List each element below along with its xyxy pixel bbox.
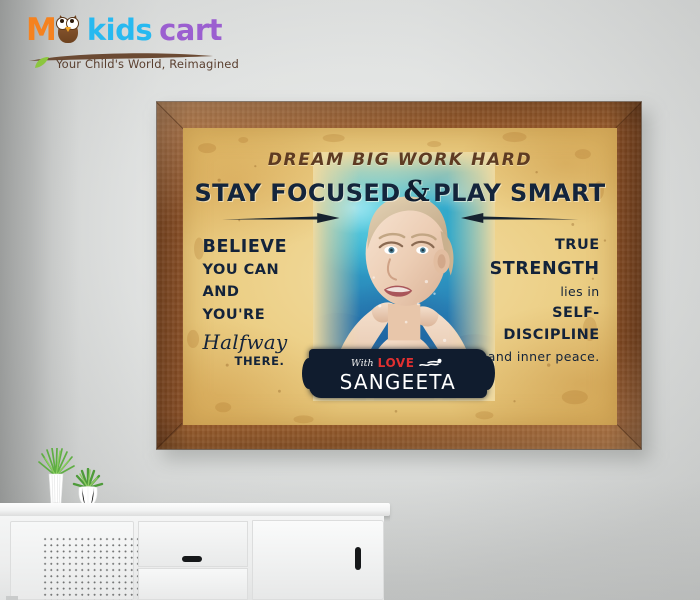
arrow-left-icon (459, 210, 581, 226)
arrow-right-icon (220, 210, 342, 226)
left-quote-line-2: YOU CAN (203, 263, 320, 278)
perforated-panel[interactable] (10, 521, 134, 600)
cabinet-top-surface (0, 503, 390, 516)
poster-right-quote: TRUE STRENGTH lies in SELF- DISCIPLINE a… (474, 238, 600, 363)
right-quote-line-4: SELF- (474, 306, 600, 321)
room-scene: M kids cart Your Child's World, Reimagin… (0, 0, 700, 600)
banner-with-love: With LOVE (351, 356, 445, 371)
perforation-holes (42, 536, 139, 600)
door-handle[interactable] (355, 547, 361, 570)
small-round-pot-plant (70, 468, 106, 508)
frame-miter-bottom-right (617, 424, 642, 449)
right-quote-line-3: lies in (474, 285, 600, 298)
cabinet-drawer-lower[interactable] (138, 568, 248, 600)
personalized-name-banner: With LOVE SANGEETA (309, 349, 487, 398)
swimmer-icon (419, 358, 445, 368)
left-quote-line-3: AND (203, 285, 320, 300)
left-quote-line-4: YOU'RE (203, 308, 320, 323)
left-quote-line-1: BELIEVE (203, 238, 320, 256)
headline-ampersand: & (404, 174, 431, 208)
brand-logo-wordmark: M kids cart (26, 12, 222, 48)
frame-miter-top-left (156, 102, 184, 130)
brand-tagline: Your Child's World, Reimagined (56, 57, 239, 71)
frame-miter-bottom-left (156, 423, 182, 449)
left-quote-line-5: Halfway (203, 332, 320, 352)
right-quote-line-5: DISCIPLINE (474, 328, 600, 343)
brand-word-cart: cart (159, 16, 222, 45)
headline-right-part: PLAY SMART (433, 179, 605, 207)
brand-letter-m: M (26, 15, 56, 46)
banner-with-word: With (351, 358, 374, 369)
owl-icon (56, 16, 80, 44)
banner-recipient-name: SANGEETA (340, 372, 456, 392)
right-quote-line-2: STRENGTH (474, 260, 600, 278)
right-quote-line-1: TRUE (474, 238, 600, 253)
banner-love-word: LOVE (378, 356, 415, 370)
cabinet-door[interactable] (252, 520, 384, 600)
headline-left-part: STAY FOCUSED (194, 179, 400, 207)
white-sideboard-cabinet[interactable] (0, 516, 384, 600)
brand-word-kids: kids (87, 16, 152, 45)
frame-miter-top-right (616, 102, 642, 128)
picture-frame[interactable]: DREAM BIG WORK HARD STAY FOCUSED&PLAY SM… (157, 102, 641, 449)
poster-headline-top: DREAM BIG WORK HARD (183, 150, 617, 170)
poster-headline-main: STAY FOCUSED&PLAY SMART (183, 174, 617, 208)
drawer-handle[interactable] (182, 556, 202, 562)
brand-logo[interactable]: M kids cart Your Child's World, Reimagin… (26, 12, 221, 70)
cabinet-foot (6, 596, 18, 600)
leaf-icon (34, 56, 50, 69)
poster-left-quote: BELIEVE YOU CAN AND YOU'RE Halfway THERE… (203, 238, 320, 368)
poster-artwork: DREAM BIG WORK HARD STAY FOCUSED&PLAY SM… (183, 128, 617, 425)
